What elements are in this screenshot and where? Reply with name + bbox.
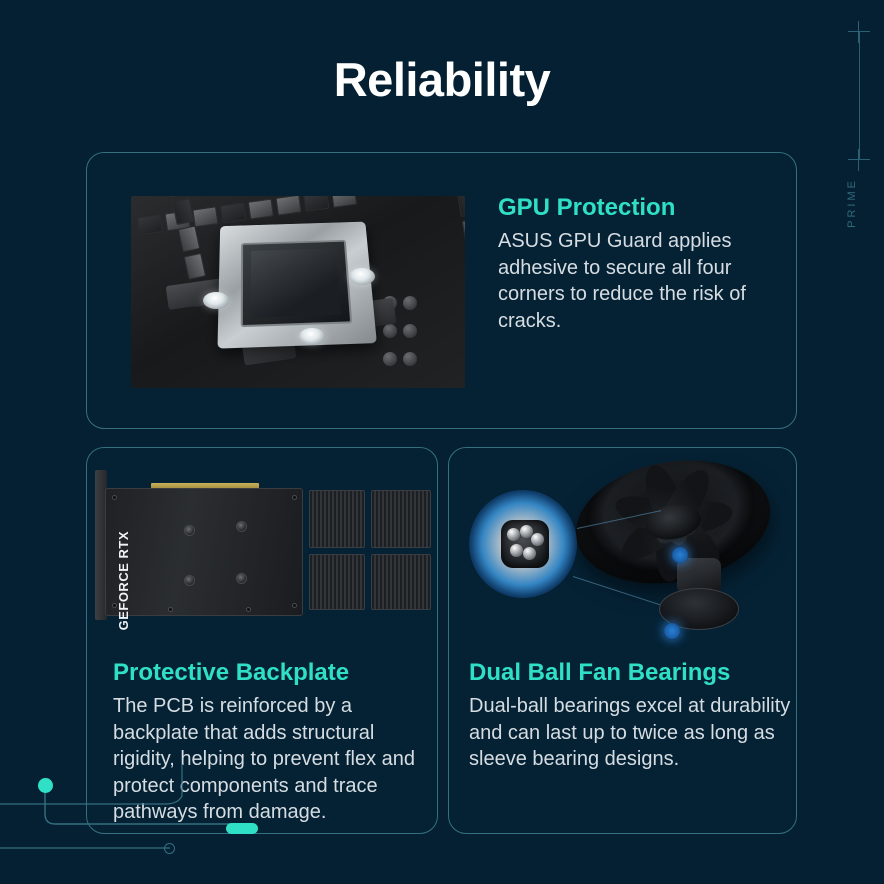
gpu-protection-heading: GPU Protection bbox=[498, 195, 760, 221]
adhesive-blob-icon bbox=[349, 268, 375, 285]
capacitor-row bbox=[383, 324, 417, 338]
page-title: Reliability bbox=[0, 52, 884, 107]
graphics-card-backplate-image: GEFORCE RTX bbox=[93, 462, 435, 642]
circuit-ring-node bbox=[164, 843, 175, 854]
mount-hole bbox=[292, 495, 297, 500]
backplate-text-block: Protective Backplate The PCB is reinforc… bbox=[113, 660, 433, 825]
gpu-die-inner bbox=[241, 240, 353, 327]
bearing-ball bbox=[507, 528, 520, 541]
fan-motor-assembly bbox=[651, 554, 743, 634]
gpu-die-core bbox=[251, 248, 341, 318]
adhesive-blob-icon bbox=[299, 328, 325, 345]
bearing-ball bbox=[531, 533, 544, 546]
mount-hole bbox=[246, 607, 251, 612]
bearings-heading: Dual Ball Fan Bearings bbox=[469, 660, 791, 686]
capacitor-row bbox=[383, 352, 417, 366]
bearing-ball bbox=[523, 547, 536, 560]
gpu-die-heatspreader bbox=[217, 222, 376, 349]
bearings-body: Dual-ball bearings excel at durability a… bbox=[469, 693, 791, 772]
right-rail-decoration: PRIME bbox=[834, 0, 884, 290]
fin-block bbox=[309, 554, 365, 610]
bearing-highlight-marker bbox=[663, 622, 681, 640]
gpu-protection-text-block: GPU Protection ASUS GPU Guard applies ad… bbox=[498, 195, 760, 334]
adhesive-blob-icon bbox=[203, 292, 229, 309]
gpu-die-closeup-image bbox=[131, 196, 465, 388]
bearings-text-block: Dual Ball Fan Bearings Dual-ball bearing… bbox=[469, 660, 791, 773]
prime-brand-label: PRIME bbox=[846, 178, 858, 228]
fin-block bbox=[371, 490, 431, 548]
backplate-body: The PCB is reinforced by a backplate tha… bbox=[113, 693, 433, 825]
geforce-rtx-label: GEFORCE RTX bbox=[116, 531, 131, 630]
card-protective-backplate: GEFORCE RTX Protective Backplate bbox=[86, 447, 438, 834]
mount-hole bbox=[292, 603, 297, 608]
fin-block bbox=[309, 490, 365, 548]
heatsink-fin-section bbox=[309, 490, 433, 614]
fin-block bbox=[371, 554, 431, 610]
dual-ball-bearing-fan-image bbox=[455, 454, 795, 654]
backplate-heading: Protective Backplate bbox=[113, 660, 433, 686]
backplate-screw bbox=[184, 525, 195, 536]
mount-hole bbox=[168, 607, 173, 612]
gpu-protection-body: ASUS GPU Guard applies adhesive to secur… bbox=[498, 228, 760, 334]
backplate-screw bbox=[184, 575, 195, 586]
backplate-screw bbox=[236, 521, 247, 532]
backplate-screw bbox=[236, 573, 247, 584]
plus-marker-icon bbox=[848, 149, 870, 171]
card-dual-ball-fan-bearings: Dual Ball Fan Bearings Dual-ball bearing… bbox=[448, 447, 797, 834]
mount-hole bbox=[112, 495, 117, 500]
reliability-page: Reliability bbox=[0, 0, 884, 884]
backplate-panel: GEFORCE RTX bbox=[105, 488, 303, 616]
circuit-node-dot bbox=[38, 778, 53, 793]
plus-marker-icon bbox=[848, 21, 870, 43]
bearing-ball bbox=[510, 544, 523, 557]
mount-hole bbox=[112, 603, 117, 608]
bearing-highlight-marker bbox=[671, 546, 689, 564]
card-gpu-protection: GPU Protection ASUS GPU Guard applies ad… bbox=[86, 152, 797, 429]
bearing-race-closeup bbox=[501, 520, 549, 568]
